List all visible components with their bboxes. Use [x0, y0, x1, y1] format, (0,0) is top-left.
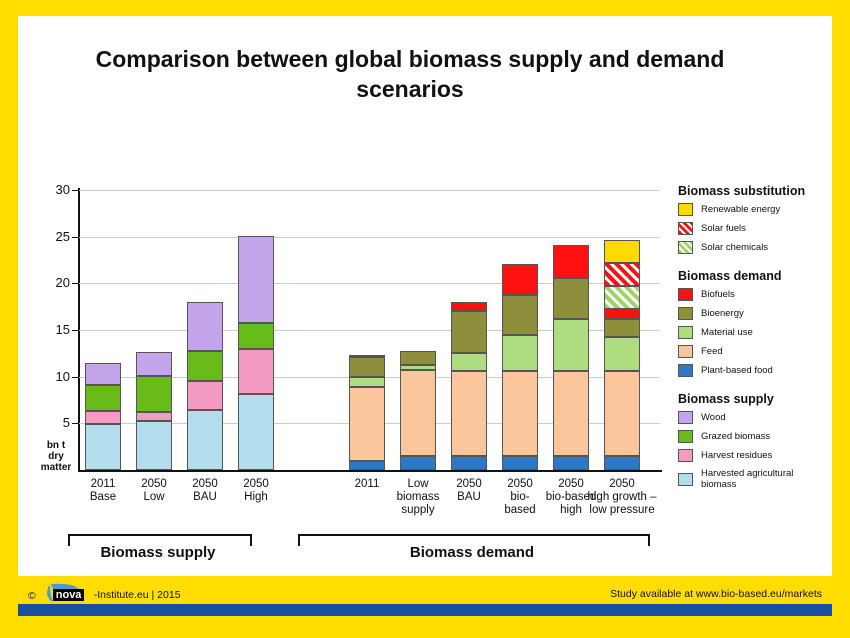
legend-swatch [678, 222, 693, 235]
legend-swatch [678, 307, 693, 320]
bar-segment [451, 353, 487, 371]
x-axis-label-line: high growth – [587, 491, 656, 503]
page-title: Comparison between global biomass supply… [40, 44, 780, 104]
bar-segment [502, 371, 538, 456]
legend-item[interactable]: Renewable energy [678, 203, 828, 216]
copyright-symbol: © [28, 590, 36, 602]
bar-segment [85, 411, 121, 424]
y-axis-tick-label: 30 [30, 182, 70, 197]
y-axis-tick-mark [72, 283, 79, 284]
legend-swatch [678, 241, 693, 254]
legend-swatch [678, 288, 693, 301]
legend-swatch [678, 411, 693, 424]
legend-label: Renewable energy [701, 204, 780, 215]
legend-swatch [678, 203, 693, 216]
legend-spacer [678, 260, 828, 269]
y-unit-line-1: bn t [47, 440, 65, 451]
legend-section-title: Biomass substitution [678, 184, 828, 198]
legend-item[interactable]: Grazed biomass [678, 430, 828, 443]
bar-segment [136, 412, 172, 420]
legend-label: Biofuels [701, 289, 735, 300]
legend-label: Material use [701, 327, 753, 338]
bar-segment [400, 365, 436, 371]
bar-segment [187, 302, 223, 351]
bar-segment [604, 319, 640, 337]
group-label-demand: Biomass demand [298, 544, 646, 561]
bar-segment [502, 295, 538, 334]
x-axis-label-line: High [244, 491, 268, 503]
copyright-footer: © nova -Institute.eu | 2015 [28, 586, 116, 606]
bar-segment [136, 421, 172, 470]
chart-legend: Biomass substitutionRenewable energySola… [678, 184, 828, 496]
legend-label: Bioenergy [701, 308, 744, 319]
bar-segment [553, 319, 589, 371]
legend-item[interactable]: Biofuels [678, 288, 828, 301]
y-axis-tick-label: 10 [30, 369, 70, 384]
legend-label: Harvested agricultural biomass [701, 468, 828, 490]
x-axis-label-line: bio- [510, 491, 529, 503]
y-axis-tick-mark [72, 423, 79, 424]
poster-frame: Comparison between global biomass supply… [0, 0, 850, 638]
bar-segment [502, 456, 538, 470]
legend-label: Wood [701, 412, 726, 423]
x-axis-label-line: low pressure [589, 504, 654, 516]
bar-segment [238, 323, 274, 349]
legend-item[interactable]: Material use [678, 326, 828, 339]
y-axis-tick-label: 25 [30, 229, 70, 244]
bar-segment [400, 456, 436, 470]
bar-segment [451, 456, 487, 470]
bar-segment [553, 245, 589, 278]
bar-segment [187, 351, 223, 382]
bar-segment [85, 385, 121, 411]
bar-segment [187, 381, 223, 410]
bar-segment [604, 240, 640, 262]
y-axis-tick-mark [72, 237, 79, 238]
bar-segment [238, 394, 274, 470]
y-unit-line-2: dry [48, 451, 64, 462]
y-axis-unit-label: bn t dry matter [33, 440, 79, 473]
x-axis-label-line: supply [401, 504, 434, 516]
bar-segment [604, 456, 640, 470]
y-axis-tick-mark [72, 190, 79, 191]
bar-segment [451, 302, 487, 311]
x-axis-label-9: 2050high growth –low pressure [579, 478, 665, 517]
bar-segment [604, 309, 640, 318]
gridline [78, 190, 660, 191]
bar-segment [553, 371, 589, 456]
bar-segment [400, 370, 436, 456]
x-axis-label-line: 2050 [243, 478, 269, 490]
group-label-supply: Biomass supply [58, 544, 258, 561]
y-axis-tick-label: 5 [30, 415, 70, 430]
legend-swatch [678, 449, 693, 462]
legend-section-title: Biomass supply [678, 392, 828, 406]
bar-segment [238, 236, 274, 323]
bar-segment [451, 371, 487, 456]
bar-segment [85, 424, 121, 470]
bar-segment [187, 410, 223, 470]
bar-segment [604, 337, 640, 372]
legend-item[interactable]: Harvested agricultural biomass [678, 468, 828, 490]
y-axis-tick-mark [72, 330, 79, 331]
y-axis-tick-label: 15 [30, 322, 70, 337]
legend-label: Solar chemicals [701, 242, 768, 253]
bar-segment [604, 263, 640, 286]
bar-segment [604, 371, 640, 456]
legend-swatch [678, 430, 693, 443]
legend-item[interactable]: Solar chemicals [678, 241, 828, 254]
legend-swatch [678, 473, 693, 486]
legend-label: Solar fuels [701, 223, 746, 234]
bar-segment [553, 456, 589, 470]
bar-segment [238, 349, 274, 395]
legend-label: Grazed biomass [701, 431, 770, 442]
y-axis-tick-label: 20 [30, 275, 70, 290]
gridline [78, 237, 660, 238]
bar-segment [349, 357, 385, 377]
bar-segment [136, 376, 172, 412]
x-axis-label-3: 2050High [213, 478, 299, 504]
plot-area [78, 190, 660, 470]
legend-label: Plant-based food [701, 365, 773, 376]
legend-item[interactable]: Feed [678, 345, 828, 358]
bar-segment [502, 264, 538, 296]
legend-item[interactable]: Harvest residues [678, 449, 828, 462]
bar-segment [349, 461, 385, 470]
x-axis-label-line: 2050 [609, 478, 635, 490]
legend-label: Feed [701, 346, 723, 357]
bar-segment [136, 352, 172, 375]
bar-segment [349, 355, 385, 357]
study-link-text: Study available at www.bio-based.eu/mark… [610, 588, 822, 600]
bar-segment [349, 377, 385, 387]
bar-segment [553, 278, 589, 319]
bar-segment [604, 286, 640, 309]
legend-swatch [678, 345, 693, 358]
legend-label: Harvest residues [701, 450, 772, 461]
legend-swatch [678, 326, 693, 339]
logo-wordmark: nova [53, 589, 85, 601]
x-axis-line [78, 470, 662, 472]
y-axis-tick-mark [72, 377, 79, 378]
bar-segment [451, 311, 487, 353]
logo-suffix: -Institute.eu | 2015 [94, 589, 181, 601]
legend-item[interactable]: Plant-based food [678, 364, 828, 377]
legend-spacer [678, 383, 828, 392]
legend-item[interactable]: Solar fuels [678, 222, 828, 235]
nova-institute-logo: nova -Institute.eu | 2015 [39, 586, 113, 606]
bar-segment [400, 351, 436, 364]
bar-segment [502, 335, 538, 371]
legend-swatch [678, 364, 693, 377]
y-unit-line-3: matter [41, 462, 72, 473]
legend-item[interactable]: Bioenergy [678, 307, 828, 320]
bar-segment [349, 387, 385, 461]
legend-item[interactable]: Wood [678, 411, 828, 424]
legend-section-title: Biomass demand [678, 269, 828, 283]
footer-blue-bar [18, 604, 832, 616]
bar-segment [85, 363, 121, 385]
